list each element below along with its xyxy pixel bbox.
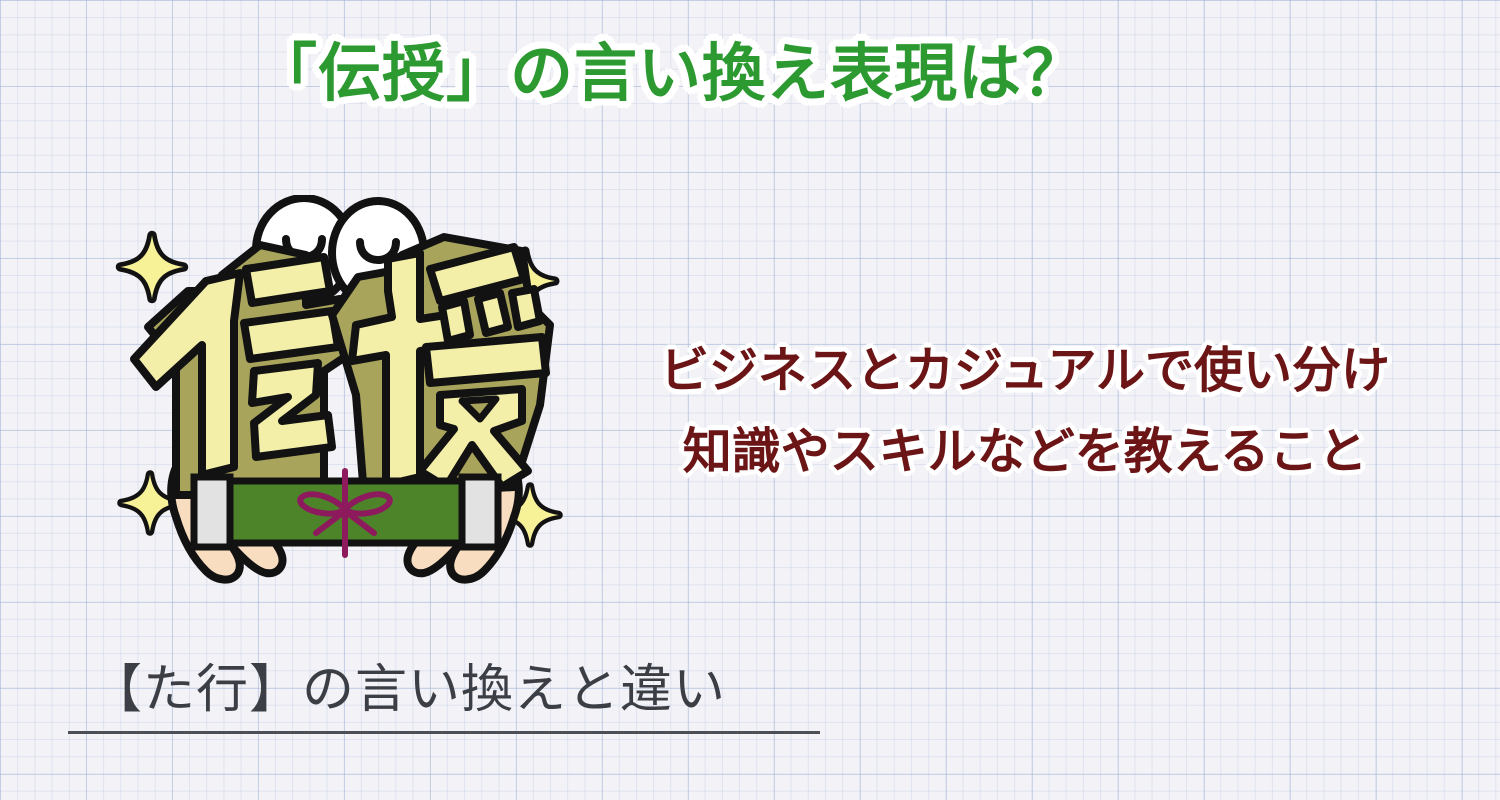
bottom-caption-label: 【た行】の言い換えと違い: [68, 655, 820, 725]
description-text-block: ビジネスとカジュアルで使い分け 知識やスキルなどを教えること: [625, 340, 1425, 483]
denju-illustration: [110, 195, 580, 585]
bottom-caption-block: 【た行】の言い換えと違い: [68, 655, 820, 734]
kanji-den-glyph: [134, 245, 348, 495]
sparkle-icon-top-left: [121, 236, 184, 299]
description-line-1: ビジネスとカジュアルで使い分け: [625, 340, 1425, 403]
certificate-scroll: [194, 471, 498, 555]
page-title: 「伝授」の言い換え表現は？: [0, 38, 1340, 110]
kanji-ju-glyph: [332, 237, 550, 495]
page-canvas: 「伝授」の言い換え表現は？: [0, 0, 1500, 800]
description-line-2: 知識やスキルなどを教えること: [625, 421, 1425, 484]
bottom-caption-underline: [68, 731, 820, 734]
